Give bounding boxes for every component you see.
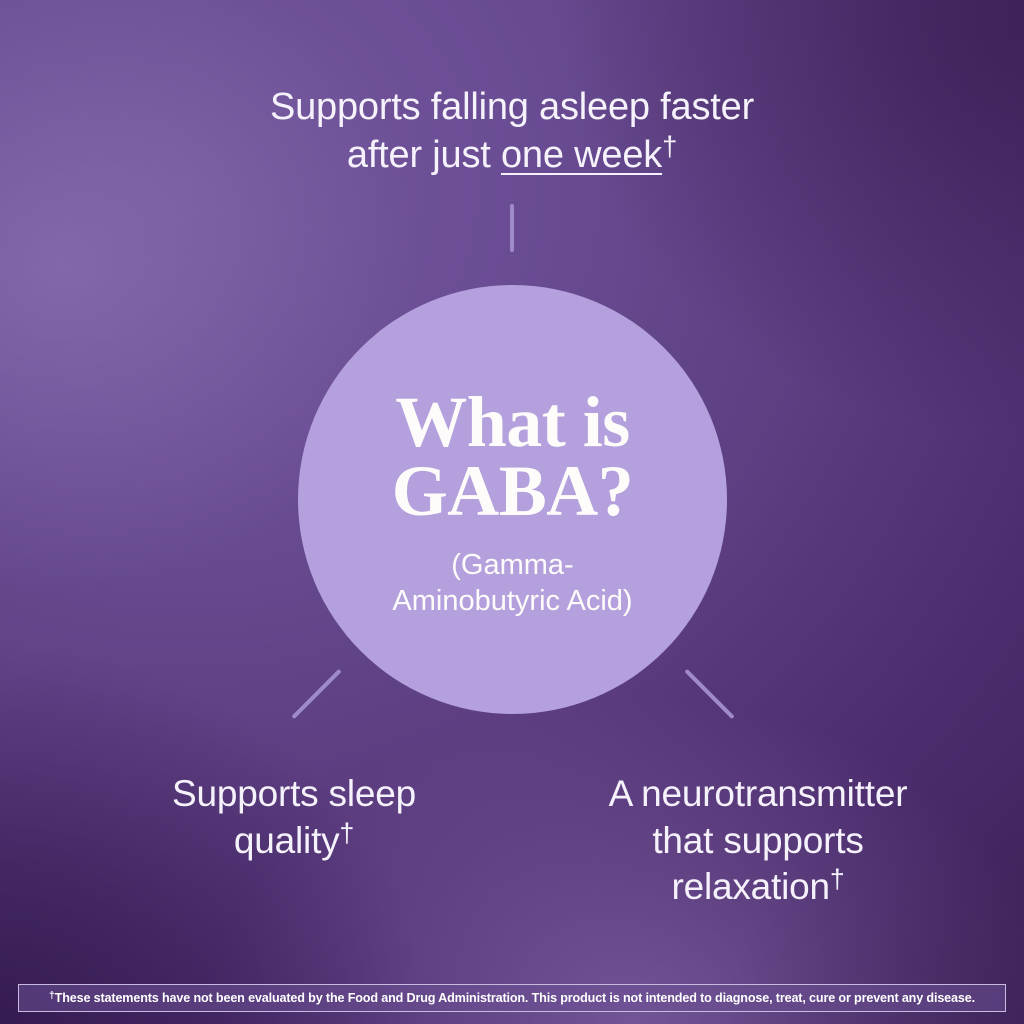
callout-left-line-1: Supports sleep	[172, 773, 416, 814]
callout-right-line-3: relaxation	[671, 866, 829, 907]
callout-top-line-2-underlined: one week	[501, 134, 662, 176]
center-title-line-2: GABA?	[392, 451, 634, 531]
gaba-infographic: Supports falling asleep faster after jus…	[0, 0, 1024, 1024]
center-subtitle: (Gamma- Aminobutyric Acid)	[392, 526, 632, 619]
callout-top: Supports falling asleep faster after jus…	[162, 84, 862, 180]
center-subtitle-line-2: Aminobutyric Acid)	[392, 585, 632, 617]
connector-line-top	[510, 204, 514, 252]
callout-bottom-right: A neurotransmitter that supports relaxat…	[528, 771, 988, 911]
callout-left-dagger: †	[339, 817, 354, 847]
callout-top-line-2-prefix: after just	[347, 134, 501, 176]
callout-left-line-2: quality	[234, 820, 340, 861]
callout-right-line-1: A neurotransmitter	[609, 773, 908, 814]
connector-line-right	[684, 669, 734, 719]
center-circle: What is GABA? (Gamma- Aminobutyric Acid)	[298, 285, 727, 714]
center-subtitle-line-1: (Gamma-	[451, 549, 573, 581]
callout-top-line-1: Supports falling asleep faster	[270, 86, 754, 128]
callout-right-dagger: †	[830, 864, 845, 894]
center-title-line-1: What is	[395, 382, 630, 462]
callout-right-line-2: that supports	[652, 820, 863, 861]
disclaimer-box: †These statements have not been evaluate…	[18, 984, 1006, 1012]
callout-top-dagger: †	[662, 130, 677, 161]
center-title: What is GABA?	[392, 380, 634, 526]
callout-bottom-left: Supports sleep quality†	[46, 771, 542, 864]
infographic-content: Supports falling asleep faster after jus…	[0, 0, 1024, 1024]
disclaimer-text: †These statements have not been evaluate…	[49, 991, 975, 1005]
disclaimer-body: These statements have not been evaluated…	[55, 991, 975, 1005]
connector-line-left	[291, 669, 341, 719]
